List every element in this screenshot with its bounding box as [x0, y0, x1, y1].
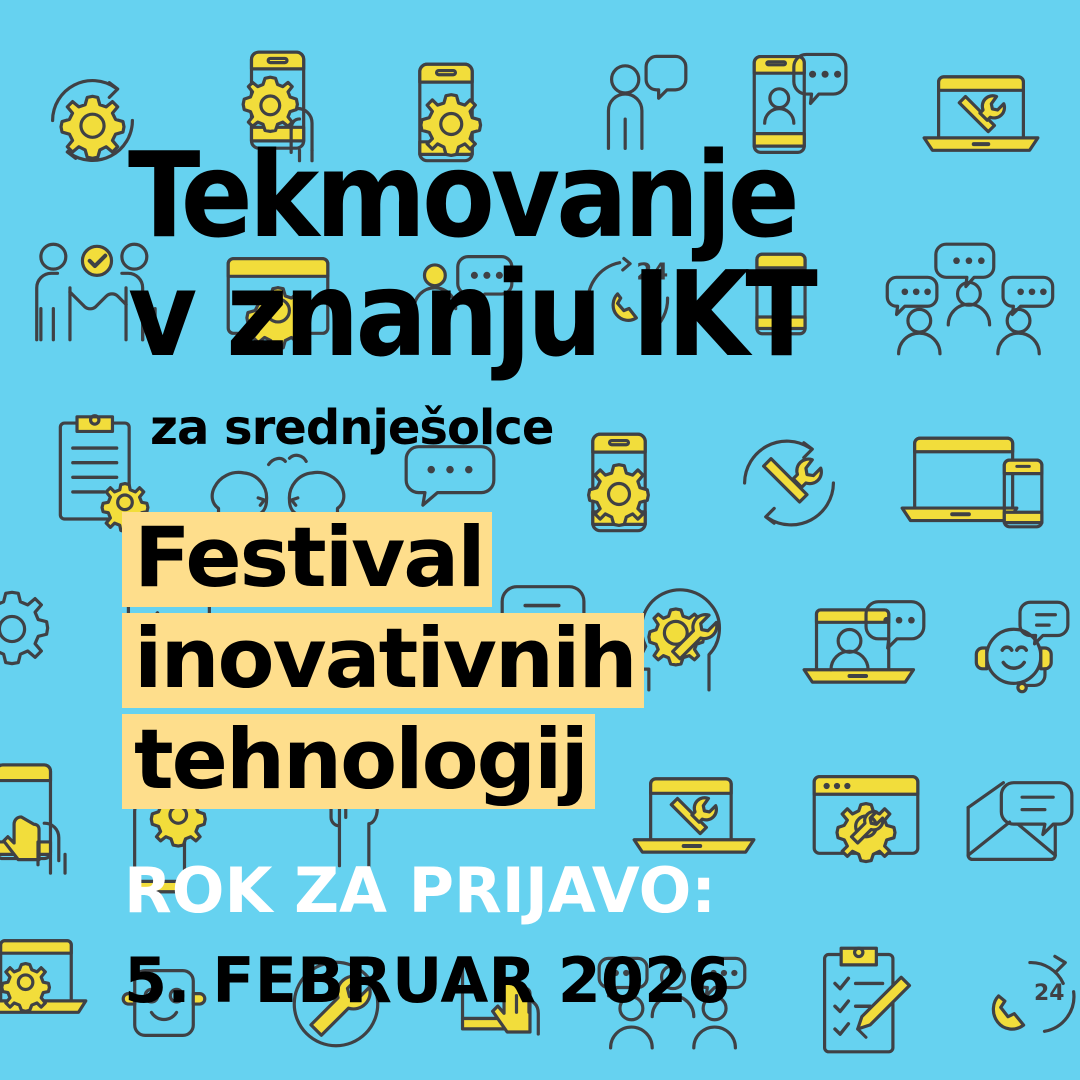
headline-line-1: Tekmovanje — [128, 141, 1028, 250]
poster-text-layer: Tekmovanje v znanju IKT za srednješolce … — [0, 0, 1080, 1080]
festival-line-3: tehnologij — [122, 714, 595, 809]
headline-line-2: v znanju IKT — [128, 260, 1028, 369]
deadline-date: 5. FEBRUAR 2026 — [124, 950, 730, 1012]
deadline-block: ROK ZA PRIJAVO: 5. FEBRUAR 2026 — [124, 860, 730, 1012]
festival-line-1: Festival — [122, 512, 492, 607]
subheadline: za srednješolce — [150, 400, 553, 456]
festival-line-2: inovativnih — [122, 613, 644, 708]
festival-title-block: Festival inovativnih tehnologij — [122, 512, 644, 815]
poster-canvas: 24 — [0, 0, 1080, 1080]
headline-block: Tekmovanje v znanju IKT — [128, 141, 1028, 368]
deadline-label: ROK ZA PRIJAVO: — [124, 860, 730, 922]
